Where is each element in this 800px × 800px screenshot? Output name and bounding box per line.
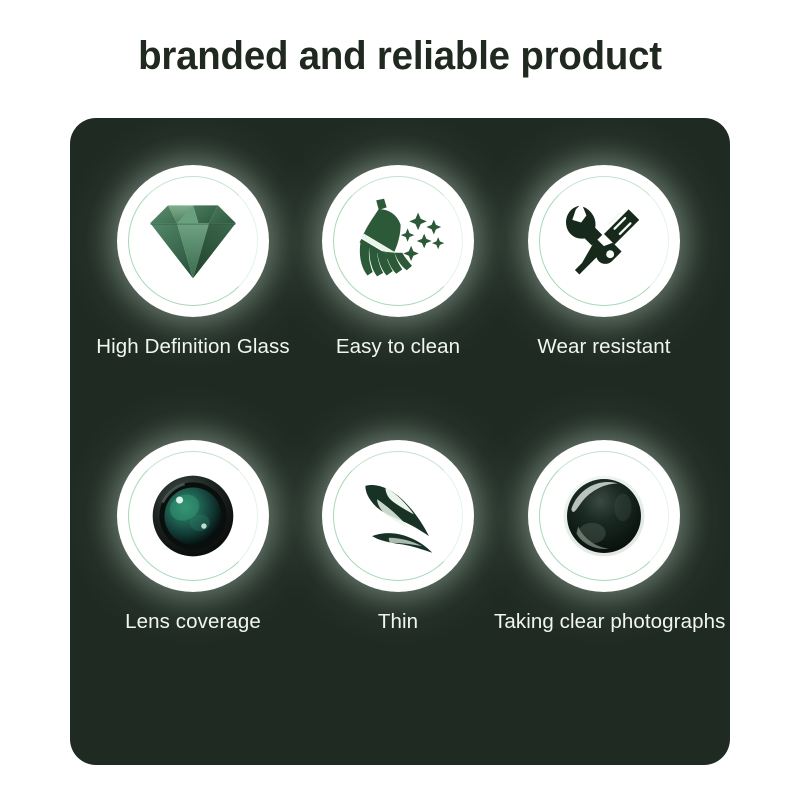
- icon-circle: [322, 165, 474, 317]
- feature-label: Easy to clean: [288, 335, 508, 359]
- feature-item-easy-to-clean[interactable]: Easy to clean: [288, 165, 508, 359]
- feature-label: Taking clear photographs: [494, 610, 714, 634]
- broom-sparkle-icon: [322, 165, 474, 317]
- feature-grid: High Definition Glass: [70, 118, 730, 765]
- feature-item-taking-clear-photographs[interactable]: Taking clear photographs: [494, 440, 714, 634]
- feature-item-thin[interactable]: Thin: [288, 440, 508, 634]
- glossy-dome-icon: [528, 440, 680, 592]
- diamond-icon: [117, 165, 269, 317]
- icon-circle: [322, 440, 474, 592]
- feature-label: Wear resistant: [494, 335, 714, 359]
- feature-item-wear-resistant[interactable]: Wear resistant: [494, 165, 714, 359]
- feature-panel: High Definition Glass: [70, 118, 730, 765]
- icon-circle: [117, 440, 269, 592]
- page-title: branded and reliable product: [16, 34, 784, 79]
- wrench-screwdriver-icon: [528, 165, 680, 317]
- feature-label: Lens coverage: [83, 610, 303, 634]
- icon-circle: [528, 165, 680, 317]
- feature-item-lens-coverage[interactable]: Lens coverage: [83, 440, 303, 634]
- icon-circle: [117, 165, 269, 317]
- feature-label: Thin: [288, 610, 508, 634]
- feather-icon: [322, 440, 474, 592]
- feature-label: High Definition Glass: [83, 335, 303, 359]
- icon-circle: [528, 440, 680, 592]
- feature-item-high-definition-glass[interactable]: High Definition Glass: [83, 165, 303, 359]
- camera-lens-icon: [117, 440, 269, 592]
